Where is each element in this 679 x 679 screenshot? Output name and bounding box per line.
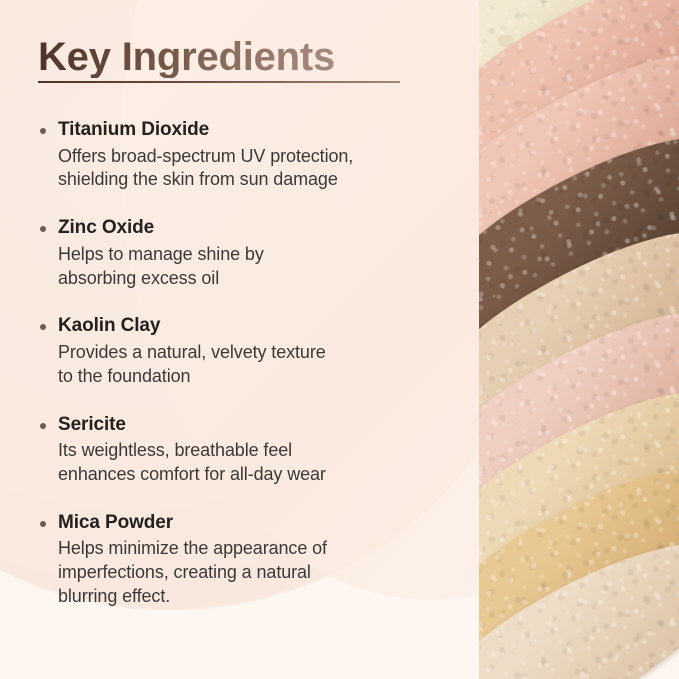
powder-bands xyxy=(479,0,679,679)
ingredient-description: Its weightless, breathable feel enhances… xyxy=(58,439,468,487)
bullet-icon xyxy=(40,128,46,134)
ingredient-description: Helps minimize the appearance of imperfe… xyxy=(58,537,468,608)
ingredient-item: SericiteIts weightless, breathable feel … xyxy=(38,413,468,487)
powder-crumb xyxy=(498,35,513,45)
page-title-block: Key Ingredients xyxy=(38,36,458,83)
ingredient-description: Provides a natural, velvety texture to t… xyxy=(58,341,468,389)
ingredient-name: Titanium Dioxide xyxy=(58,118,468,143)
ingredient-name: Kaolin Clay xyxy=(58,314,468,339)
ingredient-name: Zinc Oxide xyxy=(58,216,468,241)
powder-speck xyxy=(503,202,505,204)
ingredient-name: Mica Powder xyxy=(58,511,468,536)
page-title: Key Ingredients xyxy=(38,36,335,78)
bullet-icon xyxy=(40,423,46,429)
ingredient-name: Sericite xyxy=(58,413,468,438)
bullet-icon xyxy=(40,324,46,330)
ingredient-item: Kaolin ClayProvides a natural, velvety t… xyxy=(38,314,468,388)
ingredient-description: Offers broad-spectrum UV protection, shi… xyxy=(58,145,468,193)
ingredient-list: Titanium DioxideOffers broad-spectrum UV… xyxy=(38,118,468,633)
bullet-icon xyxy=(40,226,46,232)
poster-canvas: Key Ingredients Titanium DioxideOffers b… xyxy=(0,0,679,679)
text-column: Key Ingredients Titanium DioxideOffers b… xyxy=(0,0,500,679)
ingredient-item: Mica PowderHelps minimize the appearance… xyxy=(38,511,468,609)
powder-speck xyxy=(490,212,492,214)
ingredient-description: Helps to manage shine by absorbing exces… xyxy=(58,243,468,291)
bullet-icon xyxy=(40,521,46,527)
ingredient-item: Titanium DioxideOffers broad-spectrum UV… xyxy=(38,118,468,192)
makeup-powder-image xyxy=(479,0,679,679)
title-underline xyxy=(38,81,400,83)
powder-speck xyxy=(493,295,495,297)
powder-crumb xyxy=(494,467,499,470)
ingredient-item: Zinc OxideHelps to manage shine by absor… xyxy=(38,216,468,290)
